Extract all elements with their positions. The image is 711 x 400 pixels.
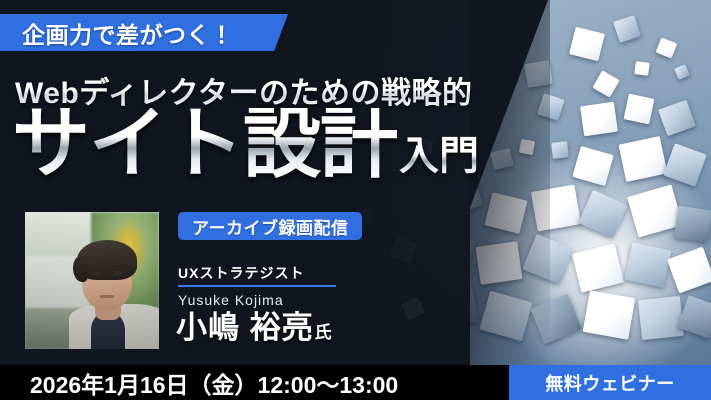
footer-price-block: 無料ウェビナー xyxy=(509,365,711,400)
title-main: サイト設計 xyxy=(12,108,397,180)
photo-eye-left xyxy=(92,272,101,276)
photo-shirt xyxy=(91,312,125,349)
photo-eyebrow-left xyxy=(91,267,101,269)
archive-badge-label: アーカイブ録画配信 xyxy=(192,214,348,239)
artwork-cube xyxy=(674,206,711,242)
archive-badge: アーカイブ録画配信 xyxy=(178,212,362,240)
speaker-role: UXストラテジスト xyxy=(178,263,304,283)
photo-jacket xyxy=(69,304,159,349)
artwork-cube xyxy=(578,190,627,238)
footer-datetime: 2026年1月16日（金）12:00〜13:00 xyxy=(0,365,509,400)
speaker-name-ja: 小嶋 裕亮 xyxy=(176,312,314,343)
photo-background-ground xyxy=(25,308,159,349)
artwork-cube xyxy=(624,94,655,125)
photo-mouth xyxy=(100,295,114,298)
artwork-cube xyxy=(583,290,636,339)
photo-face xyxy=(82,252,132,310)
speaker-divider xyxy=(178,285,336,287)
artwork-cube xyxy=(619,136,668,182)
speaker-photo xyxy=(25,212,159,349)
speaker-honorific: 氏 xyxy=(315,324,332,343)
speaker-name-en: Yusuke Kojima xyxy=(178,292,284,308)
cube-artwork xyxy=(430,0,711,365)
background-cube xyxy=(401,297,424,320)
photo-background-sky xyxy=(25,212,159,290)
background-cube xyxy=(389,237,417,264)
title-suffix: 入門 xyxy=(399,136,479,180)
speaker-name-row: 小嶋 裕亮 氏 xyxy=(176,312,332,343)
artwork-cube xyxy=(674,64,690,80)
webinar-banner: 企画力で差がつく！ Webディレクターのための戦略的 サイト設計 入門 アーカイ… xyxy=(0,0,711,400)
eyebrow-label: 企画力で差がつく！ xyxy=(22,16,234,50)
artwork-cube xyxy=(656,37,678,58)
artwork-cube xyxy=(572,243,624,292)
artwork-cube xyxy=(638,296,684,340)
artwork-cube xyxy=(613,15,641,43)
footer-datetime-label: 2026年1月16日（金）12:00〜13:00 xyxy=(30,366,398,400)
artwork-cube xyxy=(634,61,650,76)
page-title: サイト設計 入門 xyxy=(12,108,479,180)
photo-eyebrow-right xyxy=(112,266,122,268)
artwork-cube xyxy=(580,102,618,136)
photo-background-wall xyxy=(25,256,103,314)
background-cube xyxy=(328,284,350,305)
photo-eye-right xyxy=(113,271,122,275)
artwork-cube xyxy=(569,27,605,61)
artwork-cube xyxy=(658,100,696,137)
background-cube xyxy=(119,194,134,208)
eyebrow-ribbon: 企画力で差がつく！ xyxy=(0,14,288,51)
footer-price-label: 無料ウェビナー xyxy=(545,370,675,396)
photo-hair-side xyxy=(73,256,89,282)
photo-background-foliage xyxy=(91,212,159,308)
artwork-cube xyxy=(663,143,707,187)
photo-hair xyxy=(77,240,137,280)
artwork-cube xyxy=(572,146,614,186)
artwork-cube xyxy=(624,242,671,287)
artwork-cube xyxy=(551,141,569,159)
photo-neck xyxy=(95,298,121,320)
artwork-cube xyxy=(667,247,711,294)
artwork-cube xyxy=(592,70,619,97)
footer-bar: 2026年1月16日（金）12:00〜13:00 無料ウェビナー xyxy=(0,365,711,400)
